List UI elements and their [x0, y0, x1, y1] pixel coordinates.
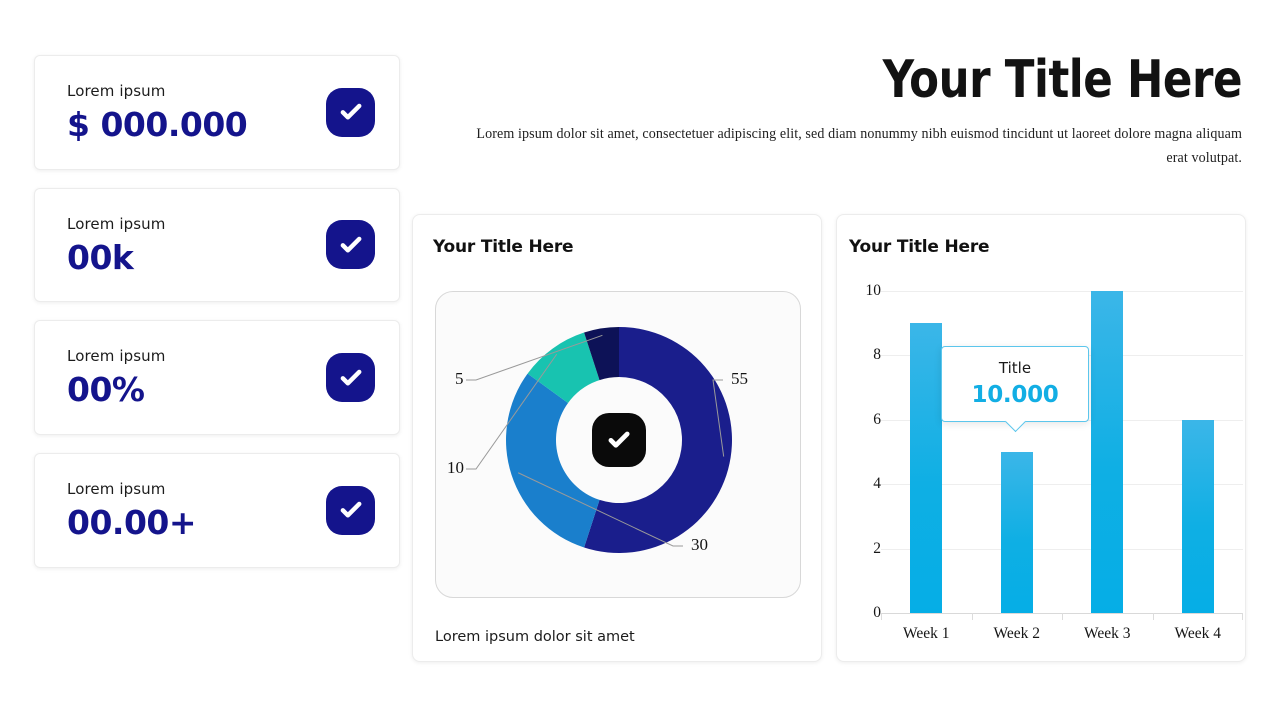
y-axis-tick-label: 8 [841, 346, 881, 364]
x-axis-tick [1062, 613, 1063, 620]
y-axis-tick-label: 2 [841, 540, 881, 558]
y-axis-tick-label: 10 [841, 282, 881, 300]
x-axis-tick [1153, 613, 1154, 620]
bar-chart-panel: Your Title Here 0246810 Week 1Week 2Week… [836, 214, 1246, 662]
kpi-value: 00k [67, 241, 165, 276]
x-axis-tick [881, 613, 882, 620]
x-axis-tick-label: Week 1 [881, 625, 972, 643]
bar-slot [1062, 291, 1153, 613]
kpi-text-group: Lorem ipsum 00% [67, 347, 165, 408]
kpi-card-list: Lorem ipsum $ 000.000 Lorem ipsum 00k Lo… [34, 55, 400, 568]
x-axis-tick-label: Week 3 [1062, 625, 1153, 643]
kpi-label: Lorem ipsum [67, 215, 165, 233]
check-badge-icon [326, 486, 375, 535]
kpi-value: $ 000.000 [67, 108, 247, 143]
kpi-card[interactable]: Lorem ipsum 00.00+ [34, 453, 400, 568]
donut-label-5: 5 [455, 369, 464, 389]
page-title: Your Title Here [498, 52, 1242, 109]
y-axis-tick-label: 4 [841, 475, 881, 493]
donut-slice[interactable] [506, 374, 600, 548]
bar-slot [972, 291, 1063, 613]
donut-panel-title: Your Title Here [433, 237, 573, 257]
y-axis-tick-label: 6 [841, 411, 881, 429]
tooltip-value: 10.000 [964, 382, 1066, 408]
bar[interactable] [1001, 452, 1033, 613]
kpi-label: Lorem ipsum [67, 480, 196, 498]
donut-caption: Lorem ipsum dolor sit amet [435, 629, 635, 645]
x-axis-tick-label: Week 2 [972, 625, 1063, 643]
y-axis-tick-label: 0 [841, 604, 881, 622]
donut-chart-frame: 55 30 10 5 [435, 291, 801, 598]
check-badge-icon [326, 88, 375, 137]
kpi-value: 00.00+ [67, 506, 196, 541]
donut-label-55: 55 [731, 369, 748, 389]
bar-series [881, 291, 1243, 613]
bar[interactable] [1182, 420, 1214, 613]
bar-slot [881, 291, 972, 613]
page-subtitle: Lorem ipsum dolor sit amet, consectetuer… [466, 123, 1242, 171]
bar[interactable] [910, 323, 942, 613]
header: Your Title Here Lorem ipsum dolor sit am… [442, 52, 1242, 171]
slide-root: Lorem ipsum $ 000.000 Lorem ipsum 00k Lo… [0, 0, 1280, 720]
donut-label-10: 10 [447, 458, 464, 478]
x-axis-tick-label: Week 4 [1153, 625, 1244, 643]
kpi-text-group: Lorem ipsum 00k [67, 215, 165, 276]
kpi-card[interactable]: Lorem ipsum 00% [34, 320, 400, 435]
kpi-text-group: Lorem ipsum $ 000.000 [67, 82, 247, 143]
kpi-card[interactable]: Lorem ipsum $ 000.000 [34, 55, 400, 170]
x-axis-tick [972, 613, 973, 620]
kpi-label: Lorem ipsum [67, 82, 247, 100]
donut-label-30: 30 [691, 535, 708, 555]
kpi-label: Lorem ipsum [67, 347, 165, 365]
kpi-card[interactable]: Lorem ipsum 00k [34, 188, 400, 303]
bar[interactable] [1091, 291, 1123, 613]
tooltip-title: Title [964, 359, 1066, 377]
check-badge-icon [326, 353, 375, 402]
bar-chart[interactable]: 0246810 Week 1Week 2Week 3Week 4 Title 1… [837, 273, 1247, 661]
x-axis-tick [1242, 613, 1243, 620]
kpi-text-group: Lorem ipsum 00.00+ [67, 480, 196, 541]
donut-chart-panel: Your Title Here 55 30 10 5 Lorem ipsum d… [412, 214, 822, 662]
bar-slot [1153, 291, 1244, 613]
bar-panel-title: Your Title Here [849, 237, 989, 257]
check-badge-icon [326, 220, 375, 269]
check-badge-icon [592, 413, 646, 467]
kpi-value: 00% [67, 373, 165, 408]
chart-tooltip[interactable]: Title 10.000 [941, 346, 1089, 422]
